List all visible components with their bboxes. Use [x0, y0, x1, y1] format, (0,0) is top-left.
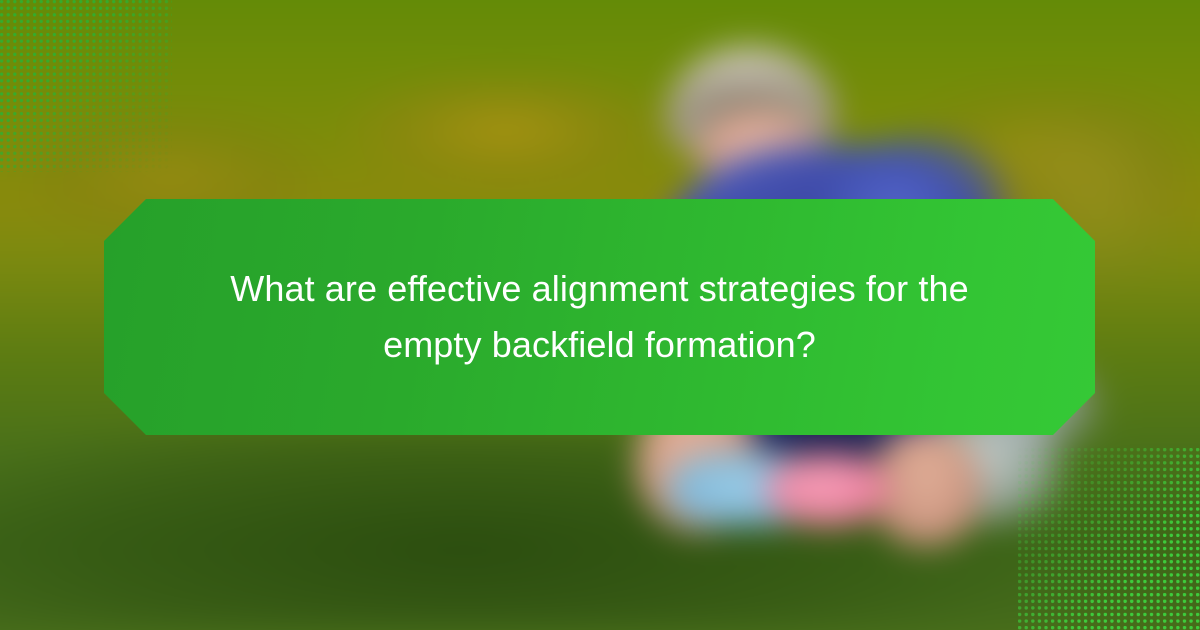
screenshot-canvas: What are effective alignment strategies …: [0, 0, 1200, 630]
halftone-dots-bottom-right-icon: [1018, 448, 1200, 630]
pink-held-object: [766, 454, 888, 526]
question-banner: What are effective alignment strategies …: [104, 199, 1095, 435]
halftone-dots-top-left-icon: [0, 0, 172, 172]
right-arm: [872, 426, 982, 546]
page-title: What are effective alignment strategies …: [150, 261, 1050, 373]
